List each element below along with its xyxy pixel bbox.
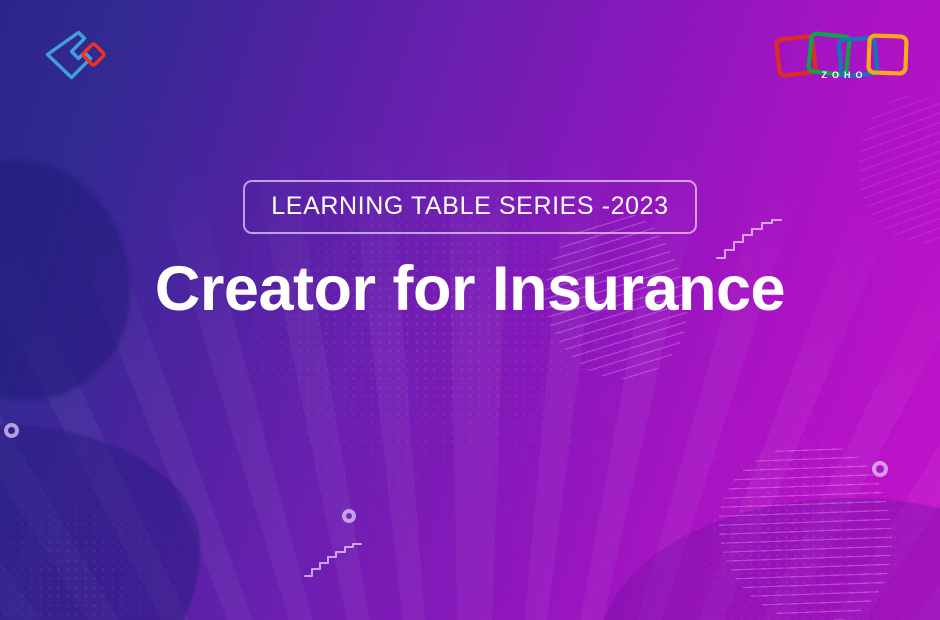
halftone-dots-bottom-left	[0, 430, 220, 620]
promo-banner: ZOHO LEARNING TABLE SERIES -2023 Creator…	[0, 0, 940, 620]
page-title: Creator for Insurance	[0, 256, 940, 322]
ring-left	[4, 423, 19, 438]
halftone-dots-bottom-right	[620, 380, 940, 620]
blob-left-bottom	[0, 425, 200, 620]
series-label: LEARNING TABLE SERIES -2023	[271, 194, 668, 219]
blob-right-bottom	[600, 498, 940, 620]
striped-blob-bottom-right	[709, 434, 902, 620]
series-label-box: LEARNING TABLE SERIES -2023	[243, 180, 696, 234]
zoho-wordmark: ZOHO	[772, 70, 912, 80]
zigzag-squiggle-bottom-left	[303, 542, 365, 578]
zoho-creator-logo[interactable]	[38, 26, 110, 92]
headline-block: LEARNING TABLE SERIES -2023 Creator for …	[0, 180, 940, 322]
ring-right	[872, 461, 888, 477]
ring-center-bottom	[342, 509, 356, 523]
